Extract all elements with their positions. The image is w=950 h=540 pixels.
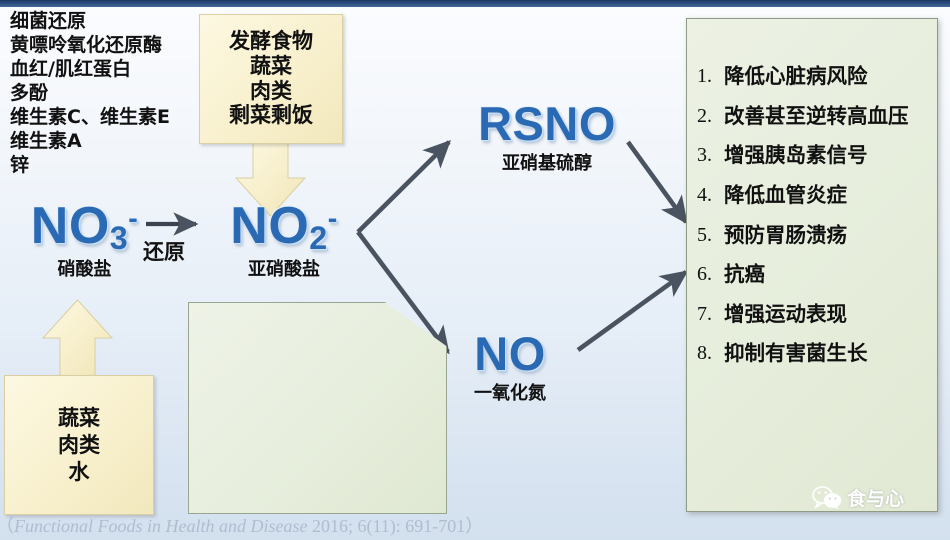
rsno-formula: RSNO: [440, 96, 654, 151]
nitrite-formula: NO2-: [196, 196, 372, 257]
nitrite-label-cn: 亚硝酸盐: [196, 255, 372, 281]
nitrate-sources-line-1: 蔬菜: [58, 406, 100, 430]
source-foods-line-1: 发酵食物: [229, 30, 313, 54]
reductants-list: 细菌还原 黄嘌呤氧化还原酶 血红/肌红蛋白 多酚 维生素C、维生素E 维生素A …: [10, 10, 170, 178]
citation-journal: Functional Foods in Health and Disease: [14, 516, 307, 536]
benefit-text-7: 增强运动表现: [724, 301, 931, 328]
citation-open-paren: （: [0, 516, 14, 536]
no-formula: NO: [437, 326, 583, 381]
arrow-no-to-benefits: [578, 272, 686, 350]
reductant-item-3: 血红/肌红蛋白: [10, 58, 170, 82]
reduction-arrow-label: 还原: [143, 236, 185, 266]
source-foods-box: 发酵食物 蔬菜 肉类 剩菜剩饭: [199, 14, 343, 144]
reductant-item-4: 多酚: [10, 82, 170, 106]
wechat-icon: [812, 486, 842, 510]
benefit-number-1: 1.: [697, 63, 724, 90]
reductants-box: [188, 302, 447, 514]
benefit-item-6: 6. 抗癌: [697, 261, 931, 288]
benefit-item-1: 1. 降低心脏病风险: [697, 63, 931, 90]
benefit-item-7: 7. 增强运动表现: [697, 301, 931, 328]
benefit-number-3: 3.: [697, 142, 724, 169]
reductant-item-5: 维生素C、维生素E: [10, 106, 170, 130]
benefit-number-4: 4.: [697, 182, 724, 209]
source-foods-line-4: 剩菜剩饭: [229, 104, 313, 128]
source-foods-line-2: 蔬菜: [250, 55, 292, 79]
node-rsno: RSNO 亚硝基硫醇: [440, 96, 654, 175]
benefit-text-8: 抑制有害菌生长: [724, 340, 931, 367]
benefit-text-3: 增强胰岛素信号: [724, 142, 931, 169]
reductant-item-2: 黄嘌呤氧化还原酶: [10, 34, 170, 58]
benefits-panel: 1. 降低心脏病风险 2. 改善甚至逆转高血压 3. 增强胰岛素信号 4. 降低…: [686, 18, 938, 512]
benefit-item-4: 4. 降低血管炎症: [697, 182, 931, 209]
citation-details: 2016; 6(11): 691-701）: [307, 516, 483, 536]
node-nitrite: NO2- 亚硝酸盐: [196, 196, 372, 281]
benefit-number-5: 5.: [697, 222, 724, 249]
benefit-item-3: 3. 增强胰岛素信号: [697, 142, 931, 169]
watermark-label: 食与心: [847, 484, 904, 511]
benefit-item-2: 2. 改善甚至逆转高血压: [697, 103, 931, 130]
reductant-item-1: 细菌还原: [10, 10, 170, 34]
benefit-number-8: 8.: [697, 340, 724, 367]
benefit-number-7: 7.: [697, 301, 724, 328]
benefit-text-5: 预防胃肠溃疡: [724, 222, 931, 249]
nitrate-sources-line-2: 肉类: [58, 433, 100, 457]
nitrate-sources-line-3: 水: [69, 460, 90, 484]
slide-canvas: 发酵食物 蔬菜 肉类 剩菜剩饭 蔬菜 肉类 水 细菌还原 黄嘌呤氧化还原酶 血红…: [0, 0, 950, 540]
benefit-text-4: 降低血管炎症: [724, 182, 931, 209]
benefit-item-5: 5. 预防胃肠溃疡: [697, 222, 931, 249]
reductant-item-7: 锌: [10, 154, 170, 178]
node-nitric-oxide: NO 一氧化氮: [437, 326, 583, 405]
benefit-number-6: 6.: [697, 261, 724, 288]
benefit-text-6: 抗癌: [724, 261, 931, 288]
no-label-cn: 一氧化氮: [437, 379, 583, 405]
source-foods-line-3: 肉类: [250, 80, 292, 104]
nitrate-sources-box: 蔬菜 肉类 水: [4, 375, 154, 515]
cream-arrow-up: [43, 300, 112, 376]
reductant-item-6: 维生素A: [10, 130, 170, 154]
benefit-text-2: 改善甚至逆转高血压: [724, 103, 931, 130]
benefit-item-8: 8. 抑制有害菌生长: [697, 340, 931, 367]
watermark: 食与心: [812, 484, 904, 511]
citation: （Functional Foods in Health and Disease …: [0, 512, 556, 538]
rsno-label-cn: 亚硝基硫醇: [440, 149, 654, 175]
benefit-text-1: 降低心脏病风险: [724, 63, 931, 90]
benefit-number-2: 2.: [697, 103, 724, 130]
